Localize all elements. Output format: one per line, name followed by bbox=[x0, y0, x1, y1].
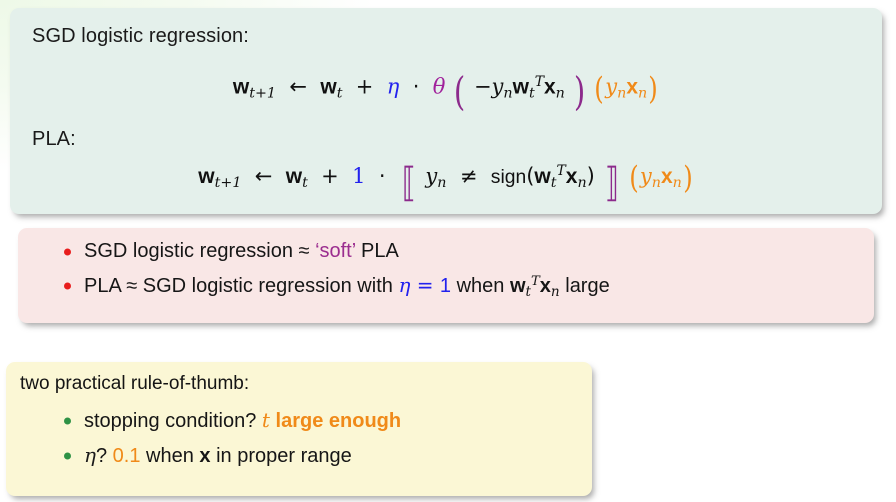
bullet-dot-icon bbox=[64, 452, 71, 459]
sgd-update-formula: wt+1 ← wt + η · θ ( −ynwtTxn ) (ynxn) bbox=[10, 70, 882, 115]
rules-item-1-post: in proper range bbox=[211, 445, 352, 467]
comparison-list: SGD logistic regression ≈ ‘soft’ PLA PLA… bbox=[84, 240, 610, 310]
eta-symbol: η bbox=[387, 74, 400, 98]
bullet-dot-icon bbox=[64, 283, 71, 290]
list-item: stopping condition? t large enough bbox=[84, 408, 401, 433]
soft-highlight: ‘soft’ bbox=[315, 240, 355, 262]
rules-list: stopping condition? t large enough η? 0.… bbox=[84, 408, 401, 478]
rules-item-1-q: ? bbox=[96, 445, 113, 467]
slide-canvas: SGD logistic regression: wt+1 ← wt + η ·… bbox=[0, 0, 896, 502]
comparison-item-0-pre: SGD logistic regression ≈ bbox=[84, 240, 315, 262]
eta-symbol: η bbox=[398, 273, 410, 297]
pla-update-formula: wt+1 ← wt + 1 · ⟦ yn ≠ sign(wtTxn) ⟧ (yn… bbox=[10, 160, 896, 206]
x-vector: x bbox=[199, 445, 210, 467]
list-item: η? 0.1 when x in proper range bbox=[84, 443, 401, 468]
sgd-label: SGD logistic regression: bbox=[32, 25, 249, 48]
step-size-one: 1 bbox=[352, 164, 365, 188]
rules-heading: two practical rule-of-thumb: bbox=[20, 373, 249, 395]
left-paren: ( bbox=[454, 70, 465, 115]
right-paren: ) bbox=[573, 70, 584, 115]
rules-block: two practical rule-of-thumb: stopping co… bbox=[6, 362, 592, 496]
large-enough-highlight: large enough bbox=[276, 410, 402, 432]
t-variable: t bbox=[262, 408, 270, 432]
eta-value: 1 bbox=[440, 275, 451, 297]
definition-block: SGD logistic regression: wt+1 ← wt + η ·… bbox=[10, 8, 882, 214]
list-item: PLA ≈ SGD logistic regression with η = 1… bbox=[84, 273, 610, 300]
bullet-dot-icon bbox=[64, 417, 71, 424]
comparison-block: SGD logistic regression ≈ ‘soft’ PLA PLA… bbox=[18, 228, 874, 323]
iverson-bracket-right: ⟧ bbox=[604, 160, 618, 206]
theta-symbol: θ bbox=[433, 74, 446, 98]
iverson-bracket-left: ⟦ bbox=[402, 160, 416, 206]
comparison-item-1-pre: PLA ≈ SGD logistic regression with bbox=[84, 275, 398, 297]
list-item: SGD logistic regression ≈ ‘soft’ PLA bbox=[84, 240, 610, 263]
bullet-dot-icon bbox=[64, 248, 71, 255]
eta-symbol: η bbox=[84, 443, 96, 467]
comparison-item-0-post: PLA bbox=[355, 240, 398, 262]
comparison-item-1-mid: when bbox=[451, 275, 510, 297]
rules-item-0-pre: stopping condition? bbox=[84, 410, 262, 432]
rules-item-1-mid: when bbox=[140, 445, 199, 467]
eta-value-highlight: 0.1 bbox=[113, 445, 141, 467]
pla-label: PLA: bbox=[32, 128, 76, 151]
comparison-item-1-post: large bbox=[560, 275, 610, 297]
